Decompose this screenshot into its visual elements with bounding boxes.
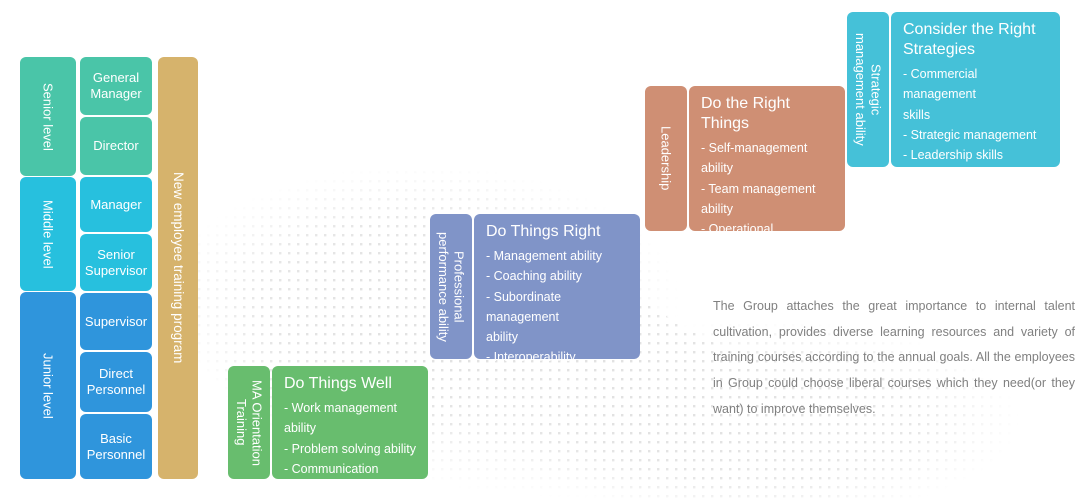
list-item: - Coaching ability (486, 266, 630, 286)
list-item: - Team management ability (701, 179, 835, 220)
level-senior[interactable]: Senior level (20, 57, 76, 176)
role-general-manager[interactable]: General Manager (80, 57, 152, 115)
track-strategic-management-title: Consider the Right Strategies (903, 20, 1050, 60)
track-leadership-side-label[interactable]: Leadership (645, 86, 687, 231)
training-framework-diagram: Senior level Middle level Junior level G… (0, 0, 1090, 499)
level-junior[interactable]: Junior level (20, 292, 76, 479)
role-director[interactable]: Director (80, 117, 152, 175)
role-supervisor[interactable]: Supervisor (80, 293, 152, 350)
track-professional-performance-side-text: Professional performance ability (436, 232, 467, 342)
track-ma-orientation-panel[interactable]: Do Things Well - Work management ability… (272, 366, 428, 479)
list-item: - Self-management ability (701, 138, 835, 179)
role-manager[interactable]: Manager (80, 177, 152, 232)
level-junior-label: Junior level (40, 353, 55, 419)
level-middle-label: Middle level (40, 200, 55, 269)
list-item: - Subordinate management ability (486, 287, 630, 348)
role-basic-personnel[interactable]: Basic Personnel (80, 414, 152, 479)
track-professional-performance-bullets: - Management ability - Coaching ability … (486, 246, 630, 368)
track-professional-performance-side-label[interactable]: Professional performance ability (430, 214, 472, 359)
track-professional-performance-panel[interactable]: Do Things Right - Management ability - C… (474, 214, 640, 359)
track-ma-orientation-bullets: - Work management ability - Problem solv… (284, 398, 418, 499)
list-item: - Negotiation skills (903, 165, 1050, 185)
level-middle[interactable]: Middle level (20, 177, 76, 291)
role-direct-personnel[interactable]: Direct Personnel (80, 352, 152, 412)
list-item: - Work management ability (284, 398, 418, 439)
level-senior-label: Senior level (40, 83, 55, 151)
track-leadership-title: Do the Right Things (701, 94, 835, 134)
track-ma-orientation-side-text: MA Orientation Training (234, 380, 265, 466)
track-ma-orientation-side-label[interactable]: MA Orientation Training (228, 366, 270, 479)
track-leadership-side-text: Leadership (658, 126, 673, 190)
track-strategic-management-side-label[interactable]: Strategic management ability (847, 12, 889, 167)
description-paragraph: The Group attaches the great importance … (713, 294, 1075, 422)
list-item: - Leadership skills (903, 145, 1050, 165)
track-leadership-bullets: - Self-management ability - Team managem… (701, 138, 835, 320)
track-strategic-management-panel[interactable]: Consider the Right Strategies - Commerci… (891, 12, 1060, 167)
role-senior-supervisor[interactable]: Senior Supervisor (80, 234, 152, 291)
list-item: - Operational management ability (701, 219, 835, 280)
new-employee-training-program-column[interactable]: New employee training program (158, 57, 198, 479)
track-professional-performance-title: Do Things Right (486, 222, 630, 242)
list-item: - Interoperability (486, 347, 630, 367)
list-item: - Strategic management (903, 125, 1050, 145)
track-strategic-management-bullets: - Commercial management skills - Strateg… (903, 64, 1050, 186)
track-leadership-panel[interactable]: Do the Right Things - Self-management ab… (689, 86, 845, 231)
new-employee-training-program-label: New employee training program (170, 172, 186, 363)
list-item: - Communication coordination ability (284, 459, 418, 499)
list-item: - Commercial management skills (903, 64, 1050, 125)
track-strategic-management-side-text: Strategic management ability (853, 33, 884, 146)
list-item: - Problem solving ability (284, 439, 418, 459)
track-ma-orientation-title: Do Things Well (284, 374, 418, 394)
list-item: - Management ability (486, 246, 630, 266)
